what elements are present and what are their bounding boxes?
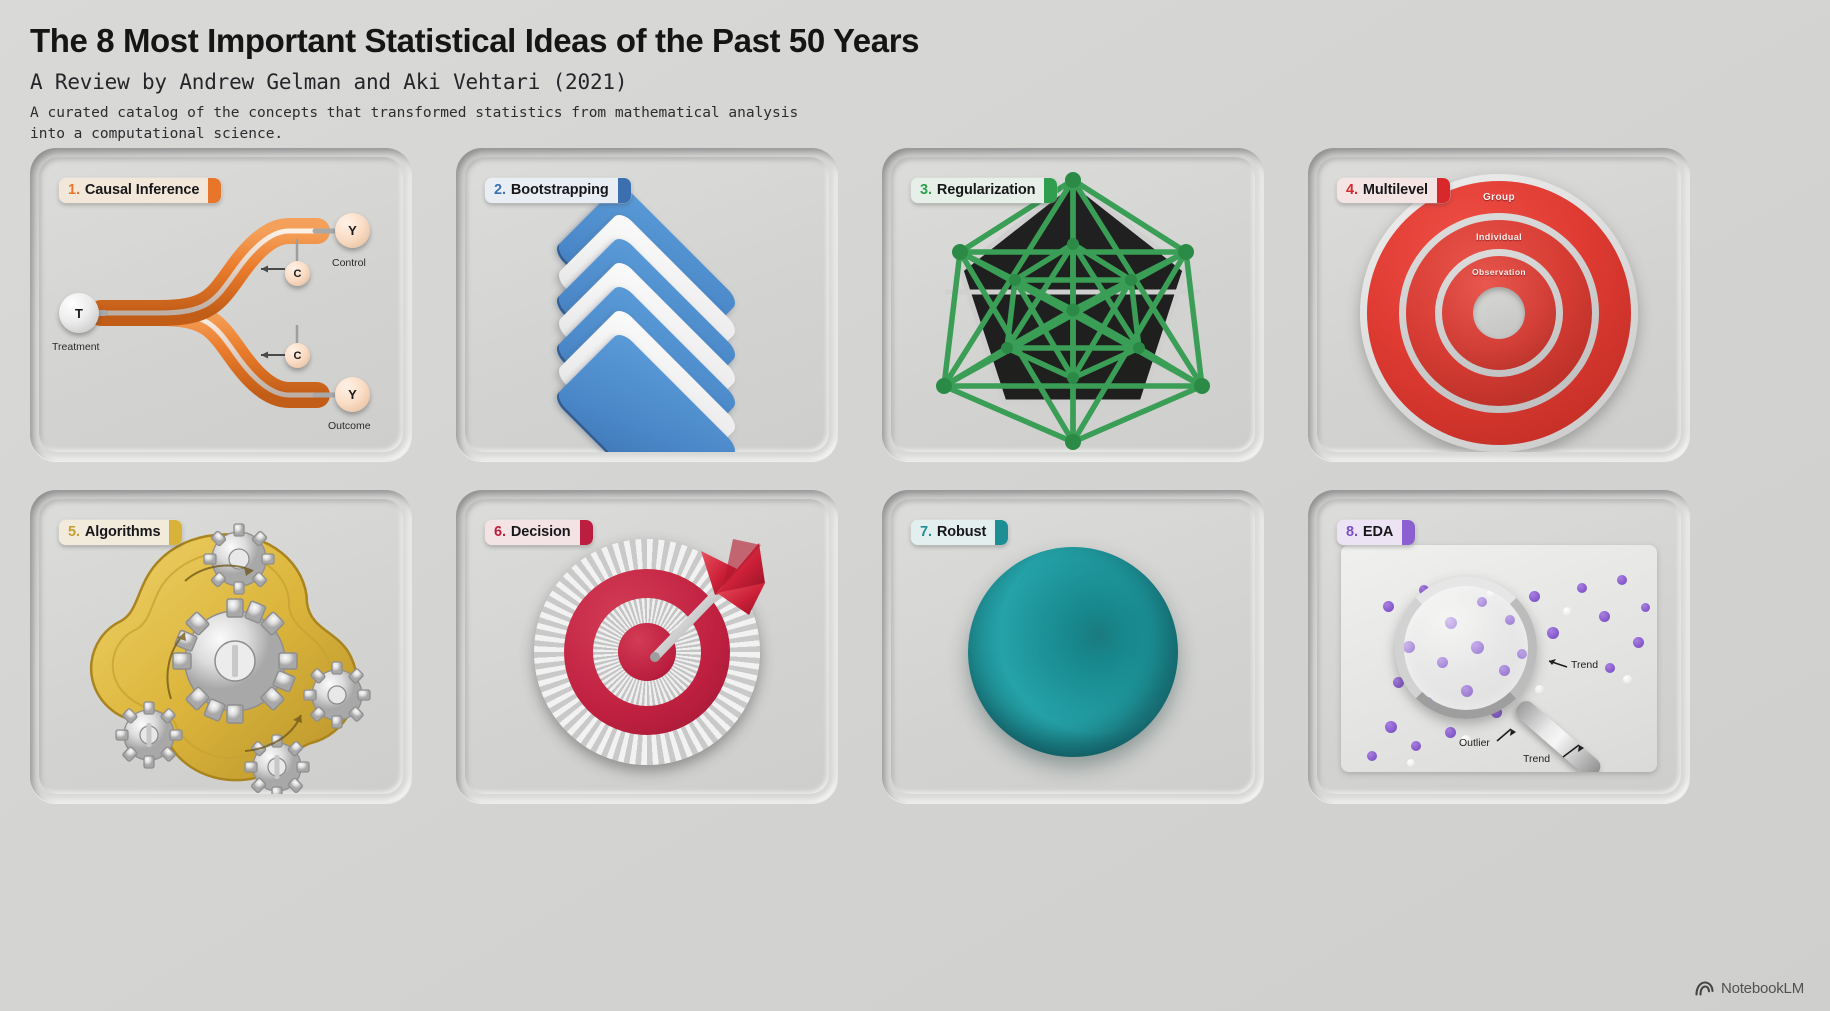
notebooklm-arc-icon	[1695, 981, 1714, 996]
outlier-dot	[1563, 607, 1572, 616]
card-inner-surface: Group Individual Observation 4. Multi	[1317, 157, 1681, 452]
scatter-dot	[1617, 575, 1627, 585]
scatter-dot	[1547, 627, 1559, 639]
card-inner-surface: Trend Outlier Trend 8. EDA	[1317, 499, 1681, 794]
card-decision[interactable]: 6. Decision	[456, 490, 838, 803]
card-badge-algorithms[interactable]: 5. Algorithms	[59, 520, 182, 545]
badge-accent-cap	[1437, 178, 1450, 203]
badge-accent-cap	[1044, 178, 1057, 203]
badge-label: Robust	[937, 525, 986, 540]
gear-lower-left	[116, 702, 182, 768]
treatment-node: T	[59, 293, 99, 333]
badge-number: 4.	[1346, 183, 1358, 198]
outcome-label: Outcome	[328, 420, 371, 432]
annotation-trend-upper: Trend	[1571, 659, 1598, 671]
card-inner-surface: 3. Regularization	[891, 157, 1255, 452]
card-inner-surface: 2. Bootstrapping	[465, 157, 829, 452]
card-regularization[interactable]: 3. Regularization	[882, 148, 1264, 461]
ring-label-individual: Individual	[1476, 232, 1522, 242]
badge-accent-cap	[618, 178, 631, 203]
card-causal-inference[interactable]: T Treatment Y Control Y Outcome C C 1. C…	[30, 148, 412, 461]
network-graph	[923, 165, 1223, 452]
page-title: The 8 Most Important Statistical Ideas o…	[30, 22, 1830, 60]
card-badge-eda[interactable]: 8. EDA	[1337, 520, 1415, 545]
badge-label: Algorithms	[85, 525, 161, 540]
badge-accent-cap	[580, 520, 593, 545]
badge-accent-cap	[169, 520, 182, 545]
outcome-node: Y	[335, 377, 370, 412]
gear-large	[173, 599, 297, 723]
badge-label: Decision	[511, 525, 571, 540]
badge-label: Causal Inference	[85, 183, 199, 198]
badge-accent-cap	[995, 520, 1008, 545]
resample-stack	[522, 185, 772, 435]
badge-label: Regularization	[937, 183, 1036, 198]
badge-accent-cap	[208, 178, 221, 203]
scatter-dot	[1599, 611, 1610, 622]
card-badge-regularization[interactable]: 3. Regularization	[911, 178, 1057, 203]
ring-label-group: Group	[1483, 192, 1515, 203]
badge-label: Multilevel	[1363, 183, 1428, 198]
scatter-dot	[1633, 637, 1644, 648]
badge-number: 1.	[68, 183, 80, 198]
card-inner-surface: 6. Decision	[465, 499, 829, 794]
badge-number: 8.	[1346, 525, 1358, 540]
gear-top	[204, 524, 274, 594]
card-badge-robust[interactable]: 7. Robust	[911, 520, 1008, 545]
outlier-dot	[1407, 759, 1415, 767]
badge-number: 2.	[494, 183, 506, 198]
card-badge-causal-inference[interactable]: 1. Causal Inference	[59, 178, 221, 203]
gear-right	[304, 662, 370, 728]
magnifier-lens	[1395, 577, 1537, 719]
idea-card-grid: T Treatment Y Control Y Outcome C C 1. C…	[30, 148, 1800, 803]
card-eda[interactable]: Trend Outlier Trend 8. EDA	[1308, 490, 1690, 803]
card-badge-bootstrapping[interactable]: 2. Bootstrapping	[485, 178, 631, 203]
ring-label-observation: Observation	[1472, 267, 1526, 277]
robust-sphere	[968, 547, 1178, 757]
control-label: Control	[332, 257, 366, 269]
treatment-label: Treatment	[52, 341, 99, 353]
page-subtitle: A Review by Andrew Gelman and Aki Vehtar…	[30, 70, 1830, 94]
scatter-dot	[1411, 741, 1421, 751]
control-node: Y	[335, 213, 370, 248]
card-inner-surface: 7. Robust	[891, 499, 1255, 794]
scatter-dot	[1383, 601, 1394, 612]
card-multilevel[interactable]: Group Individual Observation 4. Multi	[1308, 148, 1690, 461]
scatter-dot	[1605, 663, 1615, 673]
outlier-dot	[1535, 685, 1544, 694]
annotation-outlier: Outlier	[1459, 737, 1490, 749]
badge-label: Bootstrapping	[511, 183, 609, 198]
card-badge-decision[interactable]: 6. Decision	[485, 520, 593, 545]
confounder-node-upper: C	[285, 261, 310, 286]
ring-core-hole	[1473, 287, 1525, 339]
page-header: The 8 Most Important Statistical Ideas o…	[0, 0, 1830, 144]
scatter-dot	[1445, 727, 1456, 738]
scatter-dot	[1367, 751, 1377, 761]
scatter-dot	[1529, 591, 1540, 602]
card-badge-multilevel[interactable]: 4. Multilevel	[1337, 178, 1450, 203]
scatter-dot	[1577, 583, 1587, 593]
scatter-dot	[1641, 603, 1650, 612]
badge-number: 3.	[920, 183, 932, 198]
notebooklm-watermark: NotebookLM	[1695, 980, 1804, 997]
badge-number: 6.	[494, 525, 506, 540]
page-blurb: A curated catalog of the concepts that t…	[30, 103, 830, 144]
badge-label: EDA	[1363, 525, 1393, 540]
scatter-dot	[1385, 721, 1397, 733]
card-inner-surface: 5. Algorithms	[39, 499, 403, 794]
confounder-node-lower: C	[285, 343, 310, 368]
badge-accent-cap	[1402, 520, 1415, 545]
card-robust[interactable]: 7. Robust	[882, 490, 1264, 803]
card-bootstrapping[interactable]: 2. Bootstrapping	[456, 148, 838, 461]
scatter-panel: Trend Outlier Trend	[1341, 545, 1657, 772]
badge-number: 5.	[68, 525, 80, 540]
gear-lower-right	[245, 735, 309, 794]
annotation-trend-lower: Trend	[1523, 753, 1550, 765]
badge-number: 7.	[920, 525, 932, 540]
card-algorithms[interactable]: 5. Algorithms	[30, 490, 412, 803]
card-inner-surface: T Treatment Y Control Y Outcome C C 1. C…	[39, 157, 403, 452]
watermark-label: NotebookLM	[1721, 980, 1804, 997]
outlier-dot	[1623, 675, 1632, 684]
